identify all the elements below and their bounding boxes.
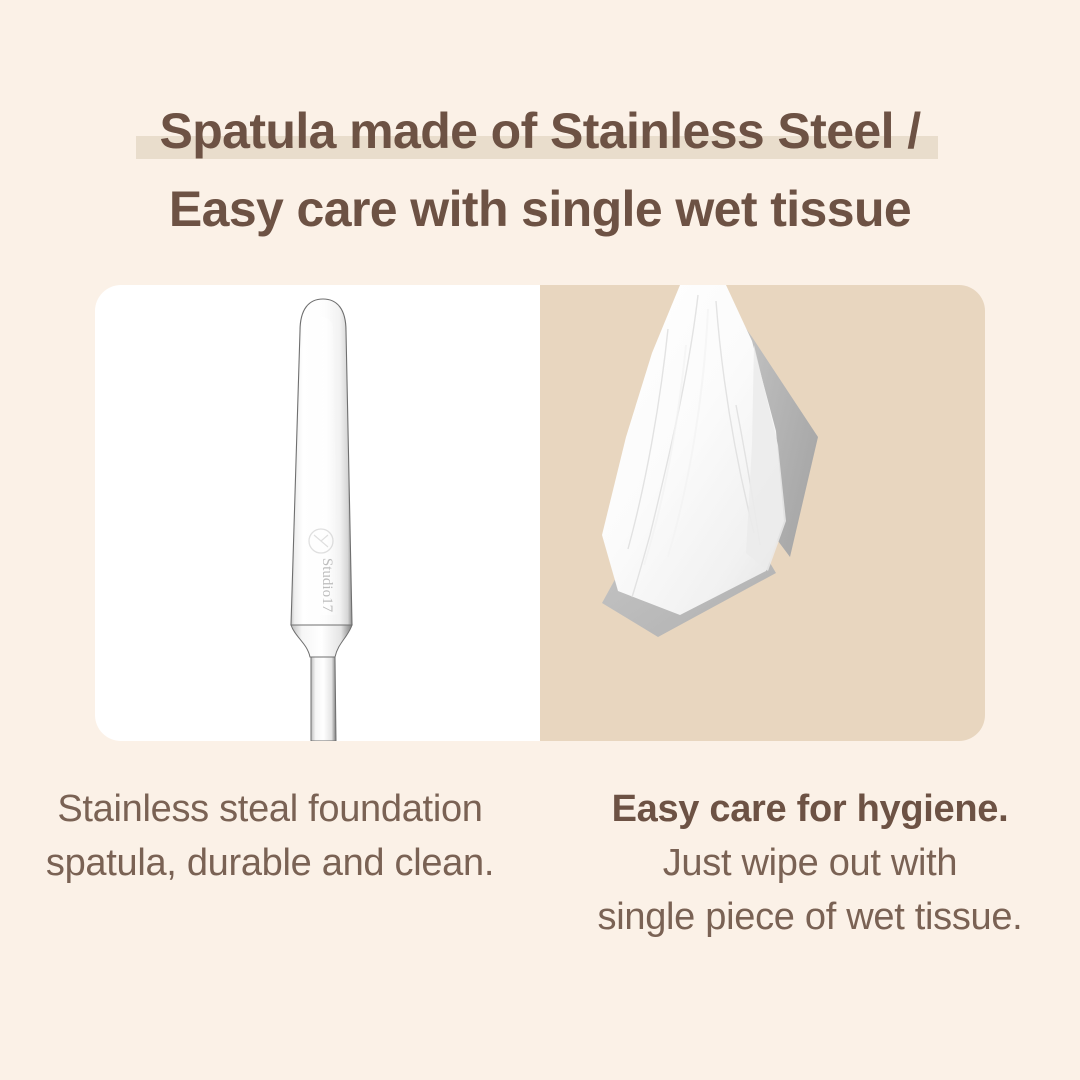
page-title: Spatula made of Stainless Steel / Easy c… <box>0 92 1080 248</box>
caption-left: Stainless steal foundation spatula, dura… <box>0 782 540 944</box>
caption-right-headline: Easy care for hygiene. <box>564 782 1056 836</box>
promo-graphic-page: Spatula made of Stainless Steel / Easy c… <box>0 0 1080 1080</box>
caption-left-line-1: Stainless steal foundation <box>18 782 522 836</box>
spatula-neck <box>291 625 352 657</box>
spatula-brand-engraving: Studio17 <box>319 558 335 613</box>
product-image-cards: Studio17 <box>95 285 985 741</box>
caption-right-line-1: Just wipe out with <box>564 836 1056 890</box>
title-line-2: Easy care with single wet tissue <box>0 170 1080 248</box>
caption-left-line-2: spatula, durable and clean. <box>18 836 522 890</box>
title-line-1: Spatula made of Stainless Steel / <box>0 92 1080 170</box>
caption-row: Stainless steal foundation spatula, dura… <box>0 782 1080 944</box>
wet-tissue-image <box>540 285 985 741</box>
caption-right: Easy care for hygiene. Just wipe out wit… <box>540 782 1080 944</box>
caption-right-line-2: single piece of wet tissue. <box>564 890 1056 944</box>
spatula-handle <box>311 657 336 741</box>
stainless-steel-spatula-image: Studio17 <box>95 285 540 741</box>
card-wet-tissue <box>540 285 985 741</box>
card-spatula: Studio17 <box>95 285 540 741</box>
